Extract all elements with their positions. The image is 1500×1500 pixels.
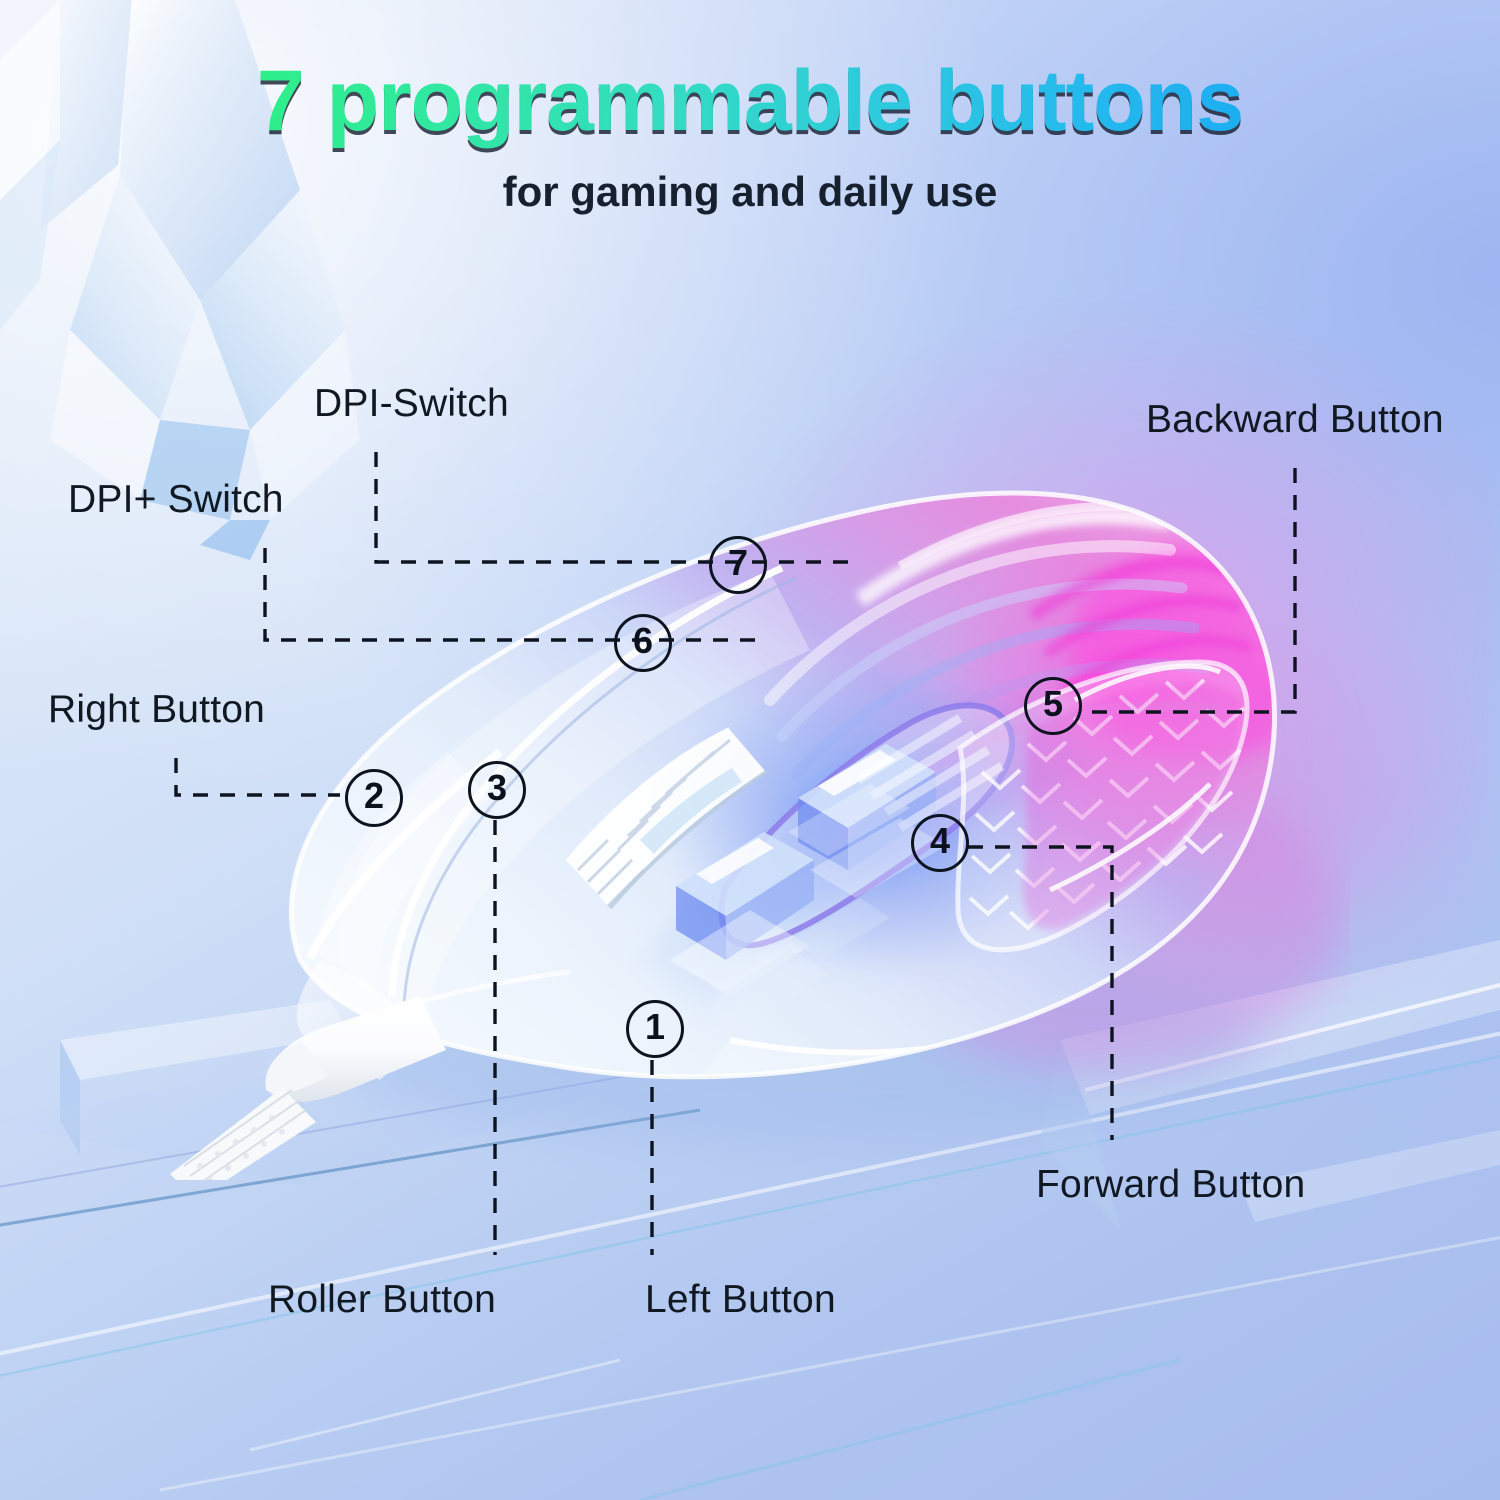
- leader-line-dpi-minus: [376, 452, 855, 562]
- callout-badge-2[interactable]: 2: [345, 769, 403, 827]
- callout-badge-4[interactable]: 4: [911, 814, 969, 872]
- background-haze: [0, 0, 1500, 1500]
- callout-badge-5[interactable]: 5: [1024, 677, 1082, 735]
- side-grip-honeycomb: [958, 662, 1247, 950]
- callout-label-backward-button: Backward Button: [1146, 398, 1444, 442]
- callout-label-dpi-plus-switch: DPI+ Switch: [68, 478, 284, 522]
- leader-line-backward-button: [1080, 468, 1295, 712]
- callout-badge-3[interactable]: 3: [468, 761, 526, 819]
- callout-label-left-button: Left Button: [645, 1278, 836, 1322]
- callout-badge-7[interactable]: 7: [709, 536, 767, 594]
- scroll-wheel: [568, 730, 766, 908]
- usb-cable: [170, 960, 446, 1180]
- callout-label-roller-button: Roller Button: [268, 1278, 496, 1322]
- background-periwinkle-gradient: [0, 0, 1500, 1500]
- callout-label-dpi-minus-switch: DPI-Switch: [314, 382, 509, 426]
- dpi-plus-switch: [676, 832, 814, 960]
- acrylic-desk-pad: [0, 930, 1500, 1500]
- infographic-canvas: 7 programmable buttons 7 programmable bu…: [0, 0, 1500, 1500]
- callout-badge-6[interactable]: 6: [614, 614, 672, 672]
- leader-line-right-button: [176, 758, 340, 795]
- page-subtitle: for gaming and daily use: [0, 168, 1500, 216]
- callout-label-forward-button: Forward Button: [1036, 1163, 1305, 1207]
- leader-line-dpi-plus: [265, 548, 760, 640]
- mouse-shell: [291, 493, 1330, 1109]
- rgb-pink-bloom: [0, 0, 1500, 1500]
- callout-badge-1[interactable]: 1: [626, 1000, 684, 1058]
- page-title: 7 programmable buttons: [0, 52, 1500, 151]
- leader-lines: [0, 0, 1500, 1500]
- leader-line-forward-button: [968, 847, 1112, 1140]
- internal-components: [670, 718, 1002, 1024]
- callout-label-right-button: Right Button: [48, 688, 265, 732]
